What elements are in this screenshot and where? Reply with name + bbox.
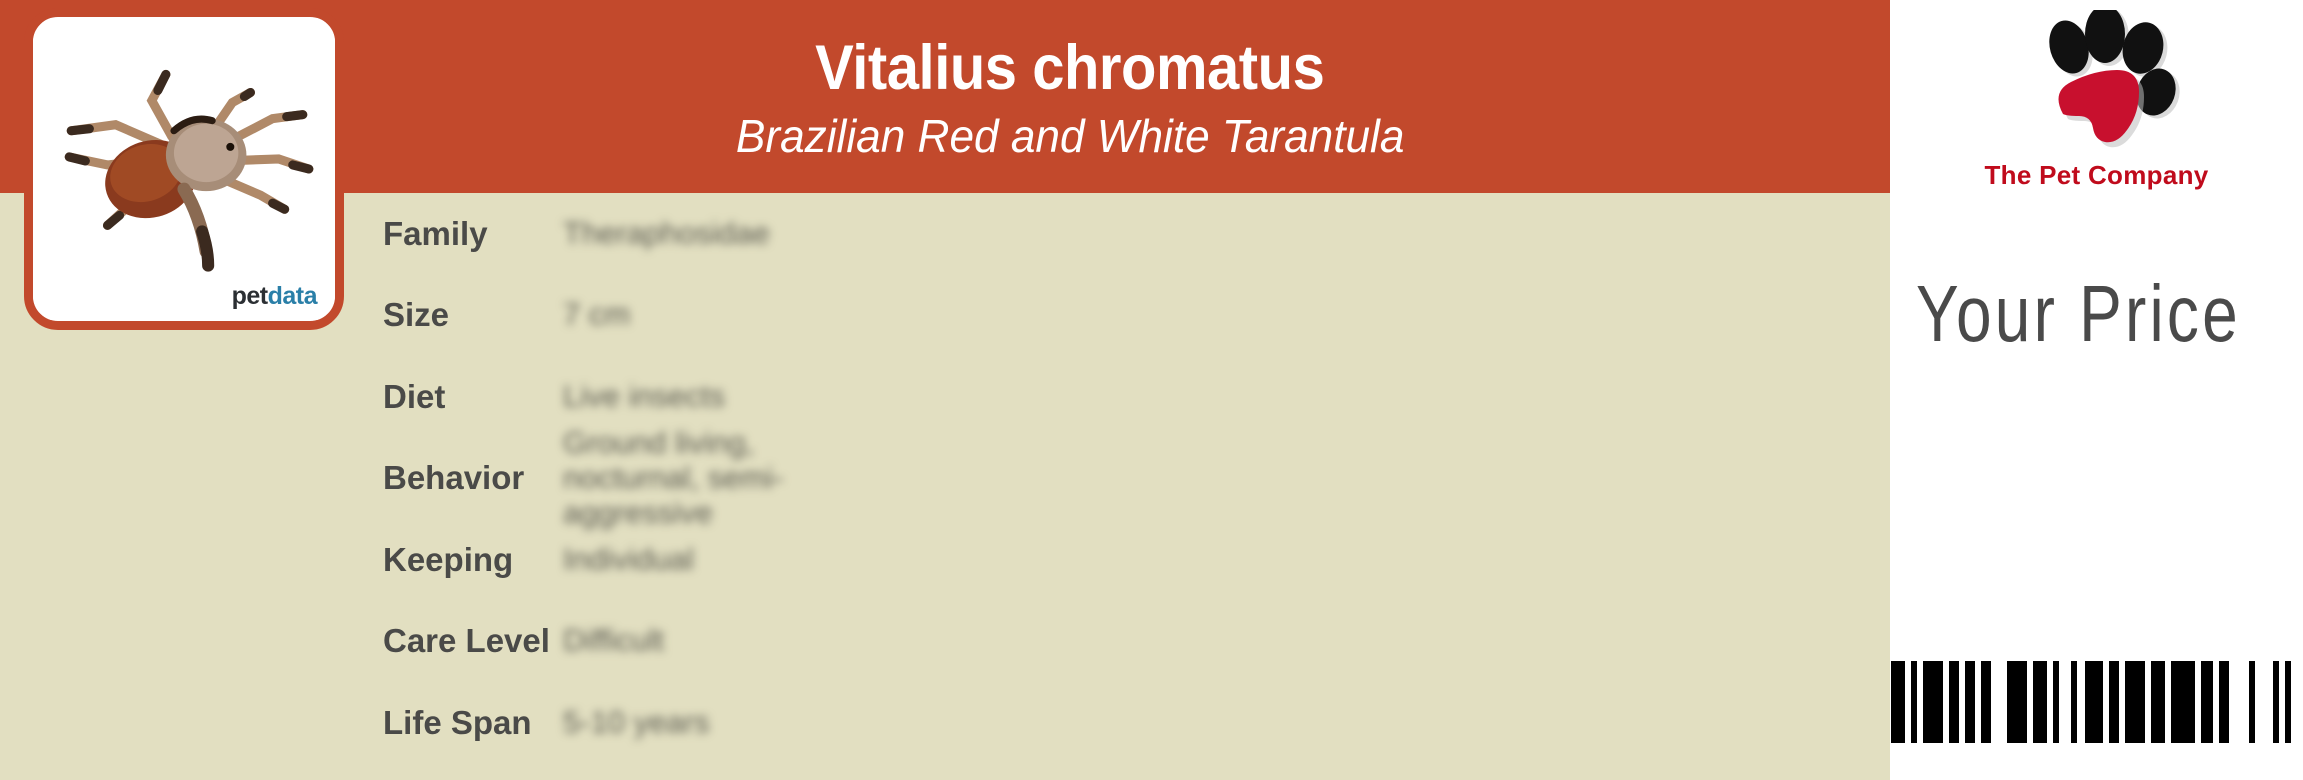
barcode-bar [1949, 661, 1959, 743]
barcode-bar [2219, 661, 2229, 743]
barcode-bar [2109, 661, 2119, 743]
barcode-bar [2291, 661, 2303, 743]
field-row: BehaviorGround living, nocturnal, semi-a… [0, 438, 760, 520]
petdata-watermark: petdata [232, 284, 317, 309]
page-title: Vitalius chromatus [815, 35, 1324, 101]
watermark-text-part1: pet [232, 282, 268, 310]
field-label-life-span: Life Span [0, 704, 383, 742]
barcode-bar [1965, 661, 1975, 743]
barcode-bar [2255, 661, 2273, 743]
barcode-bar [2229, 661, 2249, 743]
barcode-bar [2077, 661, 2085, 743]
field-row: KeepingIndividual [0, 519, 760, 601]
barcode-bar [2171, 661, 2195, 743]
barcode-bar [2125, 661, 2145, 743]
paw-print-icon [1997, 10, 2197, 158]
field-label-behavior: Behavior [0, 459, 383, 497]
field-label-keeping: Keeping [0, 541, 383, 579]
field-row: Care LevelDifficult [0, 601, 760, 683]
page-subtitle: Brazilian Red and White Tarantula [736, 111, 1405, 162]
barcode-bar [2151, 661, 2165, 743]
barcode-bar [2033, 661, 2047, 743]
pet-info-card: Vitalius chromatus Brazilian Red and Whi… [0, 0, 2303, 780]
field-label-diet: Diet [0, 378, 383, 416]
field-label-care-level: Care Level [0, 622, 383, 660]
barcode-bar [1991, 661, 2007, 743]
title-block: Vitalius chromatus Brazilian Red and Whi… [250, 6, 1890, 191]
barcode-bar [2007, 661, 2027, 743]
field-row: Life Span5-10 years [0, 682, 760, 764]
barcode-bar [2059, 661, 2071, 743]
barcode-bar [1891, 661, 1905, 743]
brand-logo: The Pet Company [1890, 10, 2303, 200]
product-barcode [1890, 645, 2303, 743]
price-panel: The Pet Company Your Price [1890, 0, 2303, 780]
tarantula-photo [33, 17, 335, 321]
species-photo-card: petdata [24, 8, 344, 330]
brand-name: The Pet Company [1984, 160, 2208, 191]
barcode-bar [2085, 661, 2103, 743]
barcode-bar [1923, 661, 1943, 743]
price-label: Your Price [1916, 268, 2252, 360]
barcode-bar [1981, 661, 1991, 743]
barcode-bar [2201, 661, 2213, 743]
watermark-text-part2: data [268, 282, 317, 310]
right-field-column: OriginBrazilHabitatForestTemp.24-28 °CHu… [760, 193, 1890, 780]
